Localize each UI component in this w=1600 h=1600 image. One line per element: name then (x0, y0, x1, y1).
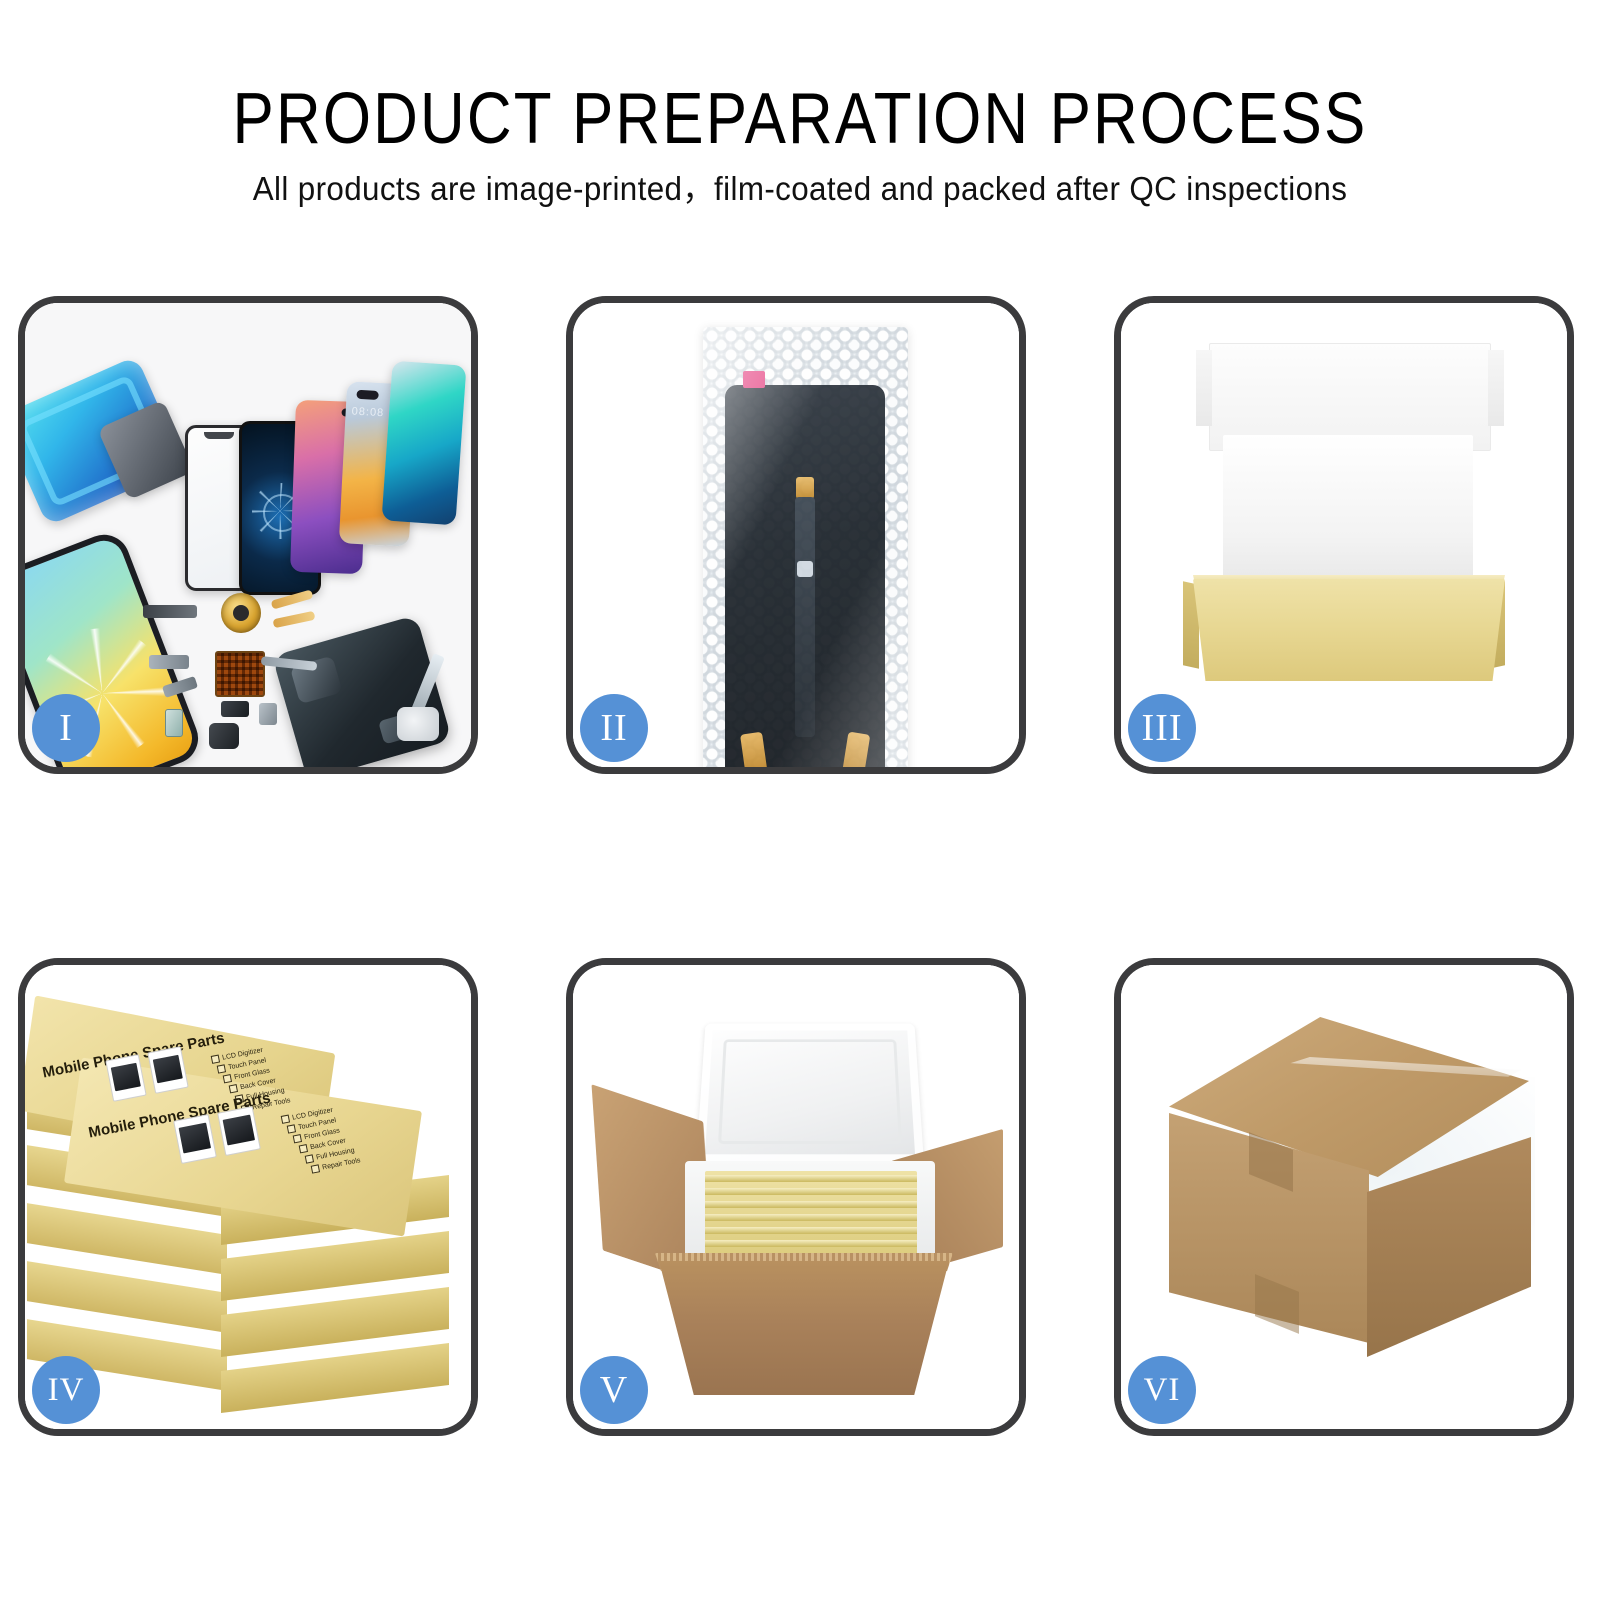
phone-clock-label: 08:08 (351, 406, 384, 420)
flex-cable-part-b (273, 611, 316, 629)
step-badge-6: VI (1128, 1356, 1196, 1424)
camera-module-part (221, 701, 249, 717)
carton-body (659, 1261, 949, 1395)
step-3-image (1121, 303, 1567, 767)
stacked-box-right-5 (221, 1343, 449, 1413)
step-panel-1: 08:08 (18, 296, 478, 774)
step-panel-2: II (566, 296, 1026, 774)
flex-connector (797, 561, 813, 577)
step-badge-2: II (580, 694, 648, 762)
step-2-image (573, 303, 1019, 767)
step-panel-5: V (566, 958, 1026, 1436)
bubble-wrap-sleeve (703, 327, 908, 767)
retail-box-stack: Mobile Phone Spare Parts LCD Digitizer T… (25, 1005, 471, 1425)
mailer-box-front-wall (1193, 579, 1505, 681)
packed-yellow-boxes (705, 1171, 917, 1255)
carton-foam-scene (573, 965, 1019, 1429)
gold-connector-right (842, 732, 871, 767)
vibrator-part (259, 703, 277, 725)
foam-cooler-lid (696, 1023, 924, 1162)
parts-collage-scene: 08:08 (25, 303, 471, 767)
front-camera-cutout-icon (356, 390, 378, 400)
step-panel-6: VI (1114, 958, 1574, 1436)
step-badge-5: V (580, 1356, 648, 1424)
teal-display-phone (382, 361, 467, 526)
sim-tray-part (165, 709, 183, 737)
sealed-carton-side-face (1367, 1137, 1531, 1357)
pink-qc-label (743, 371, 765, 388)
stacked-box-left-4 (27, 1261, 227, 1333)
wireless-charging-coil-part (221, 593, 261, 633)
mailer-box-scene (1121, 303, 1567, 767)
step-badge-1: I (32, 694, 100, 762)
step-badge-4: IV (32, 1356, 100, 1424)
box-stack-scene: Mobile Phone Spare Parts LCD Digitizer T… (25, 965, 471, 1429)
gold-connector-top (796, 477, 814, 499)
step-badge-3: III (1128, 694, 1196, 762)
connector-part-a (149, 655, 189, 669)
polishing-cloth-part (397, 707, 439, 741)
step-1-image: 08:08 (25, 303, 471, 767)
earpiece-part (209, 723, 239, 749)
step-5-image (573, 965, 1019, 1429)
ic-chip-part (215, 651, 265, 697)
step-panel-4: Mobile Phone Spare Parts LCD Digitizer T… (18, 958, 478, 1436)
display-flex-ribbon (795, 497, 815, 737)
bubble-wrap-scene (573, 303, 1019, 767)
step-4-image: Mobile Phone Spare Parts LCD Digitizer T… (25, 965, 471, 1429)
stacked-box-left-3 (27, 1203, 227, 1275)
step-6-image (1121, 965, 1567, 1429)
gold-connector-left (740, 732, 768, 767)
lcd-screen-assembly (725, 385, 885, 767)
process-steps-grid: 08:08 (0, 0, 1600, 1600)
step-panel-3: III (1114, 296, 1574, 774)
speaker-part (143, 605, 197, 618)
mailer-box-interior (1223, 435, 1473, 580)
sealed-carton-scene (1121, 965, 1567, 1429)
